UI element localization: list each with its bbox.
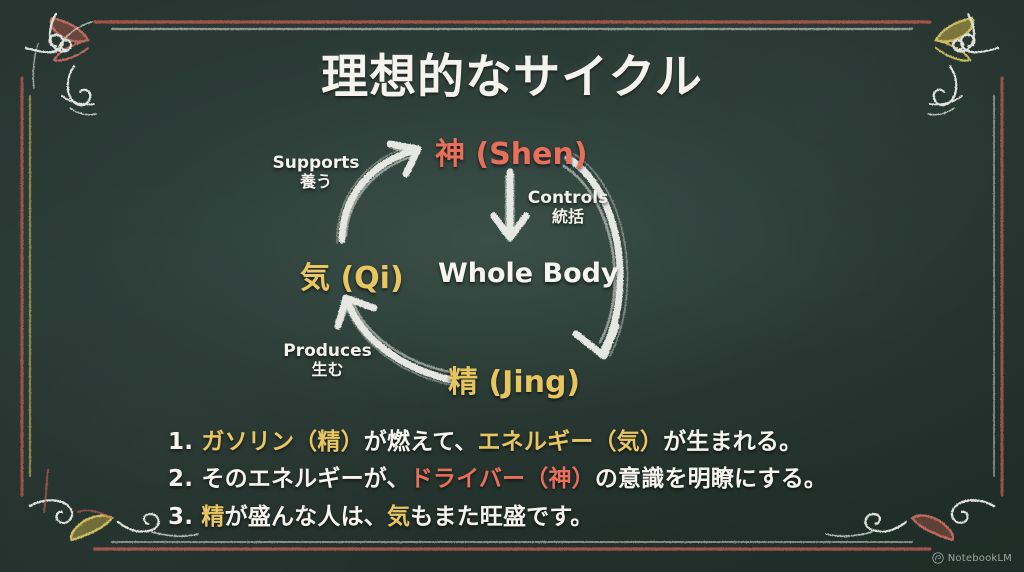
note-segment: の意識を明瞭にする。 (595, 466, 827, 492)
note-number: 2. (168, 466, 193, 492)
note-segment: ガソリン（精） (201, 429, 363, 455)
edge-label-supports: Supports 養う (256, 154, 376, 191)
notebooklm-logo-icon (932, 552, 944, 564)
note-segment: 気 (387, 504, 410, 530)
note-segment: もまた旺盛です。 (410, 504, 593, 530)
note-line: 2. そのエネルギーが、ドライバー（神）の意識を明瞭にする。 (168, 461, 928, 498)
edge-supports-en: Supports (273, 153, 360, 173)
edge-produces-en: Produces (283, 341, 372, 361)
node-shen: 神 (Shen) (435, 129, 588, 173)
node-whole-body: Whole Body (438, 258, 619, 289)
node-qi: 気 (Qi) (300, 253, 404, 297)
note-segment: が生まれる。 (663, 429, 802, 455)
note-number: 1. (168, 429, 193, 455)
watermark-label: NotebookLM (948, 553, 1012, 564)
arrow-shen-to-jing (564, 154, 627, 356)
edge-controls-jp: 統括 (513, 208, 623, 226)
edge-label-controls: Controls 統括 (513, 189, 623, 226)
note-line: 3. 精が盛んな人は、気もまた旺盛です。 (168, 499, 928, 536)
notes-list: 1. ガソリン（精）が燃えて、エネルギー（気）が生まれる。2. そのエネルギーが… (168, 424, 928, 536)
node-jing: 精 (Jing) (448, 357, 580, 401)
note-segment: が燃えて、 (364, 429, 478, 455)
edge-controls-en: Controls (528, 188, 608, 208)
slide-title: 理想的なサイクル (0, 38, 1024, 107)
notebooklm-watermark: NotebookLM (932, 552, 1012, 564)
note-segment: が盛んな人は、 (225, 504, 387, 530)
edge-produces-jp: 生む (265, 361, 390, 379)
note-line: 1. ガソリン（精）が燃えて、エネルギー（気）が生まれる。 (168, 424, 928, 461)
cycle-diagram: 神 (Shen) 気 (Qi) 精 (Jing) Whole Body Supp… (230, 112, 710, 412)
note-segment: エネルギー（気） (477, 429, 663, 455)
edge-supports-jp: 養う (256, 173, 376, 191)
note-number: 3. (168, 504, 193, 530)
note-segment: そのエネルギーが、 (201, 466, 409, 492)
edge-label-produces: Produces 生む (265, 342, 390, 379)
note-segment: ドライバー（神） (410, 466, 595, 492)
note-segment: 精 (201, 504, 224, 530)
slide-canvas: 理想的なサイクル (0, 0, 1024, 572)
